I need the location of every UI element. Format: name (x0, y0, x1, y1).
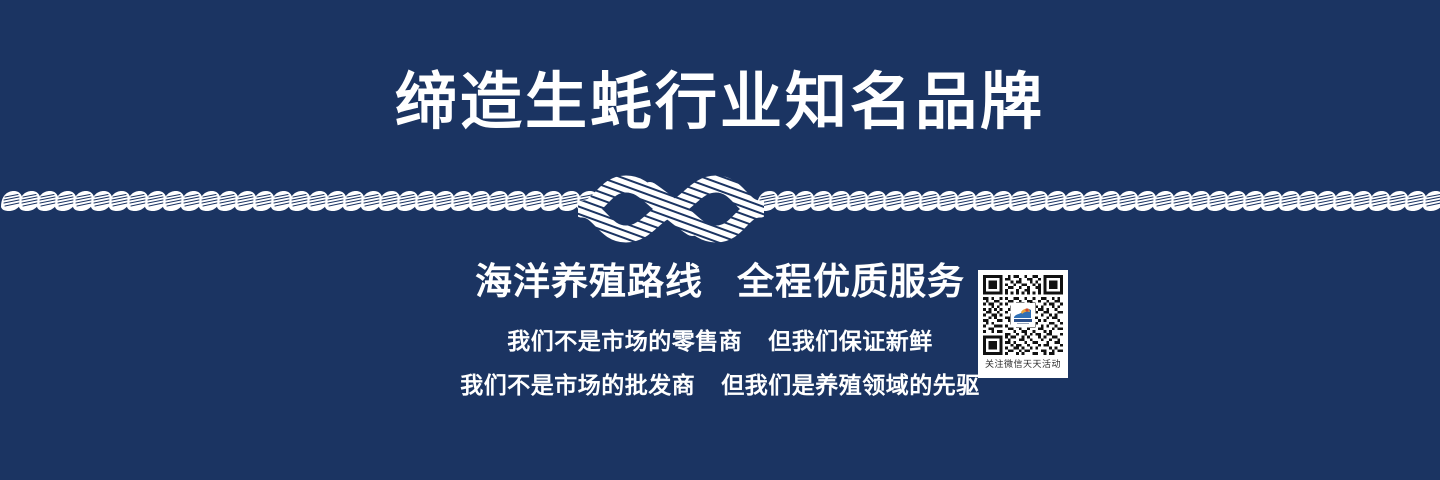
body-line-2-segment-1: 我们不是市场的批发商 (460, 372, 695, 398)
body-line-2: 我们不是市场的批发商但我们是养殖领域的先驱 (0, 364, 1440, 408)
qr-code-icon[interactable] (983, 275, 1063, 355)
subtitle: 海洋养殖路线全程优质服务 (0, 262, 1440, 303)
body-line-1: 我们不是市场的零售商但我们保证新鲜 (0, 320, 1440, 364)
qr-caption: 关注微信天天活动 (985, 355, 1061, 373)
qr-center-logo-icon (1011, 303, 1035, 327)
headline: 缔造生蚝行业知名品牌 (0, 72, 1440, 134)
subtitle-segment-2: 全程优质服务 (737, 261, 965, 302)
rope-divider (0, 168, 1440, 250)
subtitle-segment-1: 海洋养殖路线 (475, 261, 703, 302)
rope-knot-icon (578, 168, 764, 250)
qr-panel[interactable]: 关注微信天天活动 (978, 270, 1068, 378)
body-line-1-segment-1: 我们不是市场的零售商 (507, 328, 742, 354)
body-line-2-segment-2: 但我们是养殖领域的先驱 (721, 372, 980, 398)
body-text: 我们不是市场的零售商但我们保证新鲜 我们不是市场的批发商但我们是养殖领域的先驱 (0, 320, 1440, 407)
promo-banner: 缔造生蚝行业知名品牌 (0, 0, 1440, 480)
body-line-1-segment-2: 但我们保证新鲜 (768, 328, 933, 354)
